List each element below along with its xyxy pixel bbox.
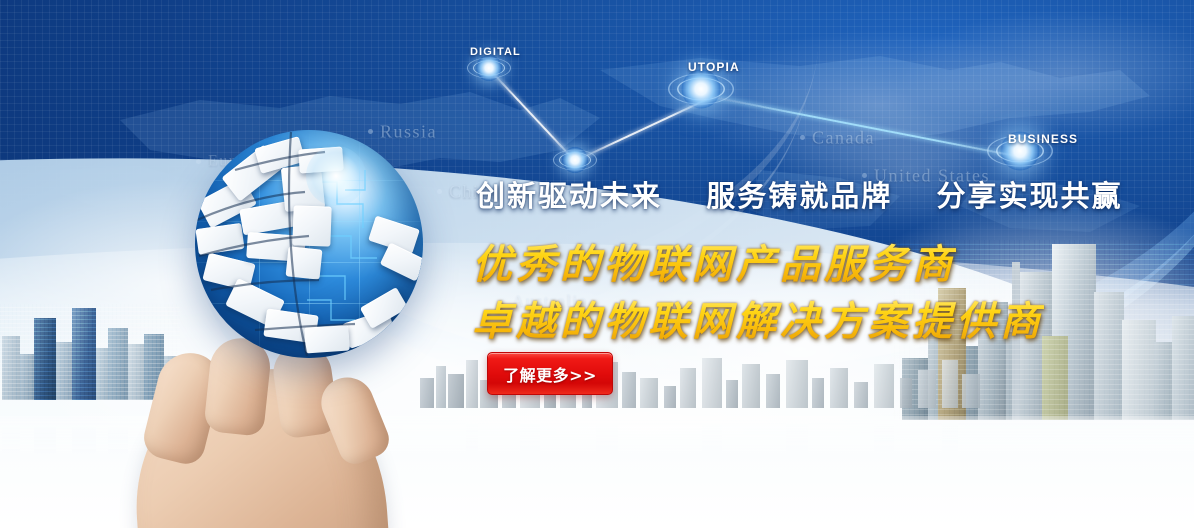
headline-part-3: 分享实现共赢: [936, 179, 1122, 213]
puzzle-globe-icon: [195, 130, 423, 358]
headline-part-2: 服务铸就品牌: [706, 179, 892, 213]
hand-holding-globe: [100, 330, 460, 528]
learn-more-button[interactable]: 了解更多>>: [487, 352, 613, 395]
subheadline-line-2: 卓越的物联网解决方案提供商: [472, 289, 1044, 347]
globe-highlight: [306, 146, 366, 206]
subheadline-line-1: 优秀的物联网产品服务商: [472, 232, 956, 290]
hero-banner: EuropeRussiaChinaCanadaUnited StatesAust…: [0, 0, 1194, 528]
headline: 创新驱动未来 服务铸就品牌 分享实现共赢: [476, 173, 1122, 215]
headline-part-1: 创新驱动未来: [476, 179, 662, 213]
